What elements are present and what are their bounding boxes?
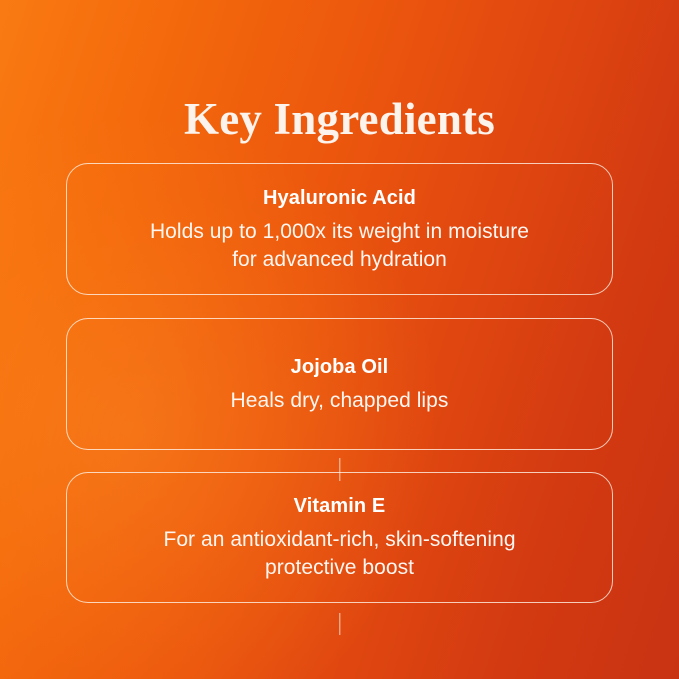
ingredient-description: Heals dry, chapped lips [231,387,449,415]
ingredient-card: Vitamin E For an antioxidant-rich, skin-… [66,472,613,603]
key-ingredients-infographic: Key Ingredients Hyaluronic Acid Holds up… [0,0,679,679]
ingredient-name: Hyaluronic Acid [263,185,416,212]
ingredient-description: For an antioxidant-rich, skin-softening … [140,526,540,582]
ingredient-card: Jojoba Oil Heals dry, chapped lips [66,318,613,450]
ingredient-description: Holds up to 1,000x its weight in moistur… [140,218,540,274]
ingredient-card: Hyaluronic Acid Holds up to 1,000x its w… [66,163,613,295]
card-connector-line [339,613,340,635]
ingredient-name: Vitamin E [294,493,386,520]
page-title: Key Ingredients [0,92,679,146]
ingredient-name: Jojoba Oil [291,354,389,381]
card-connector-line [339,458,340,481]
ingredient-card-list: Hyaluronic Acid Holds up to 1,000x its w… [66,163,613,603]
